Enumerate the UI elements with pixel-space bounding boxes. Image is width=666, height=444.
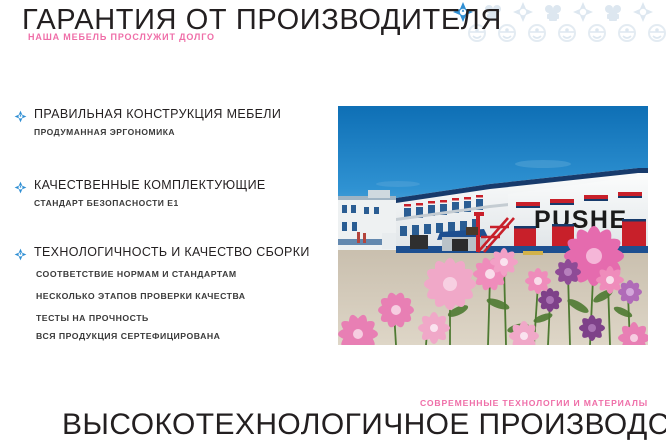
ornament-flower-icon [542,2,564,24]
ornament-rosette-icon [556,22,578,44]
list-item: ТЕСТЫ НА ПРОЧНОСТЬ [36,314,334,324]
ornament-diamond-icon [632,1,654,23]
feature-list: ПРАВИЛЬНАЯ КОНСТРУКЦИЯ МЕБЕЛИ ПРОДУМАННА… [14,108,334,359]
feature-item: ПРАВИЛЬНАЯ КОНСТРУКЦИЯ МЕБЕЛИ ПРОДУМАННА… [14,108,334,137]
list-item: НЕСКОЛЬКО ЭТАПОВ ПРОВЕРКИ КАЧЕСТВА [36,292,334,302]
footer-kicker: СОВРЕМЕННЫЕ ТЕХНОЛОГИИ И МАТЕРИАЛЫ [420,399,648,408]
feature-item: КАЧЕСТВЕННЫЕ КОМПЛЕКТУЮЩИЕ СТАНДАРТ БЕЗО… [14,179,334,208]
ornament-bullet-icon [14,248,27,261]
ornament-bullet-icon [14,110,27,123]
feature-title: ТЕХНОЛОГИЧНОСТЬ И КАЧЕСТВО СБОРКИ [34,246,310,259]
ornament-rosette-icon [646,22,666,44]
feature-subtitle: СТАНДАРТ БЕЗОПАСНОСТИ Е1 [34,198,334,208]
factory-exterior-photo: PUSHE [338,106,648,345]
list-item: СООТВЕТСТВИЕ НОРМАМ И СТАНДАРТАМ [36,270,334,280]
ornament-rosette-icon [616,22,638,44]
list-item: ВСЯ ПРОДУКЦИЯ СЕРТЕФИЦИРОВАНА [36,332,334,342]
ornament-diamond-icon [512,1,534,23]
ornament-rosette-icon [586,22,608,44]
feature-title: КАЧЕСТВЕННЫЕ КОМПЛЕКТУЮЩИЕ [34,179,266,192]
ornament-diamond-icon [572,1,594,23]
footer-title: ВЫСОКОТЕХНОЛОГИЧНОЕ ПРОИЗВОДСТВО [62,410,666,440]
ornament-flower-icon [602,2,624,24]
feature-item: ТЕХНОЛОГИЧНОСТЬ И КАЧЕСТВО СБОРКИ СООТВЕ… [14,246,334,341]
feature-sub-list: СООТВЕТСТВИЕ НОРМАМ И СТАНДАРТАМ НЕСКОЛЬ… [36,270,334,341]
feature-subtitle: ПРОДУМАННАЯ ЭРГОНОМИКА [34,127,334,137]
page-subtitle: НАША МЕБЕЛЬ ПРОСЛУЖИТ ДОЛГО [28,33,215,42]
page-title: ГАРАНТИЯ ОТ ПРОИЗВОДИТЕЛЯ [22,6,502,35]
feature-title: ПРАВИЛЬНАЯ КОНСТРУКЦИЯ МЕБЕЛИ [34,108,281,121]
page-header: ГАРАНТИЯ ОТ ПРОИЗВОДИТЕЛЯ НАША МЕБЕЛЬ ПР… [0,0,666,52]
ornament-rosette-icon [526,22,548,44]
ornament-bullet-icon [14,181,27,194]
